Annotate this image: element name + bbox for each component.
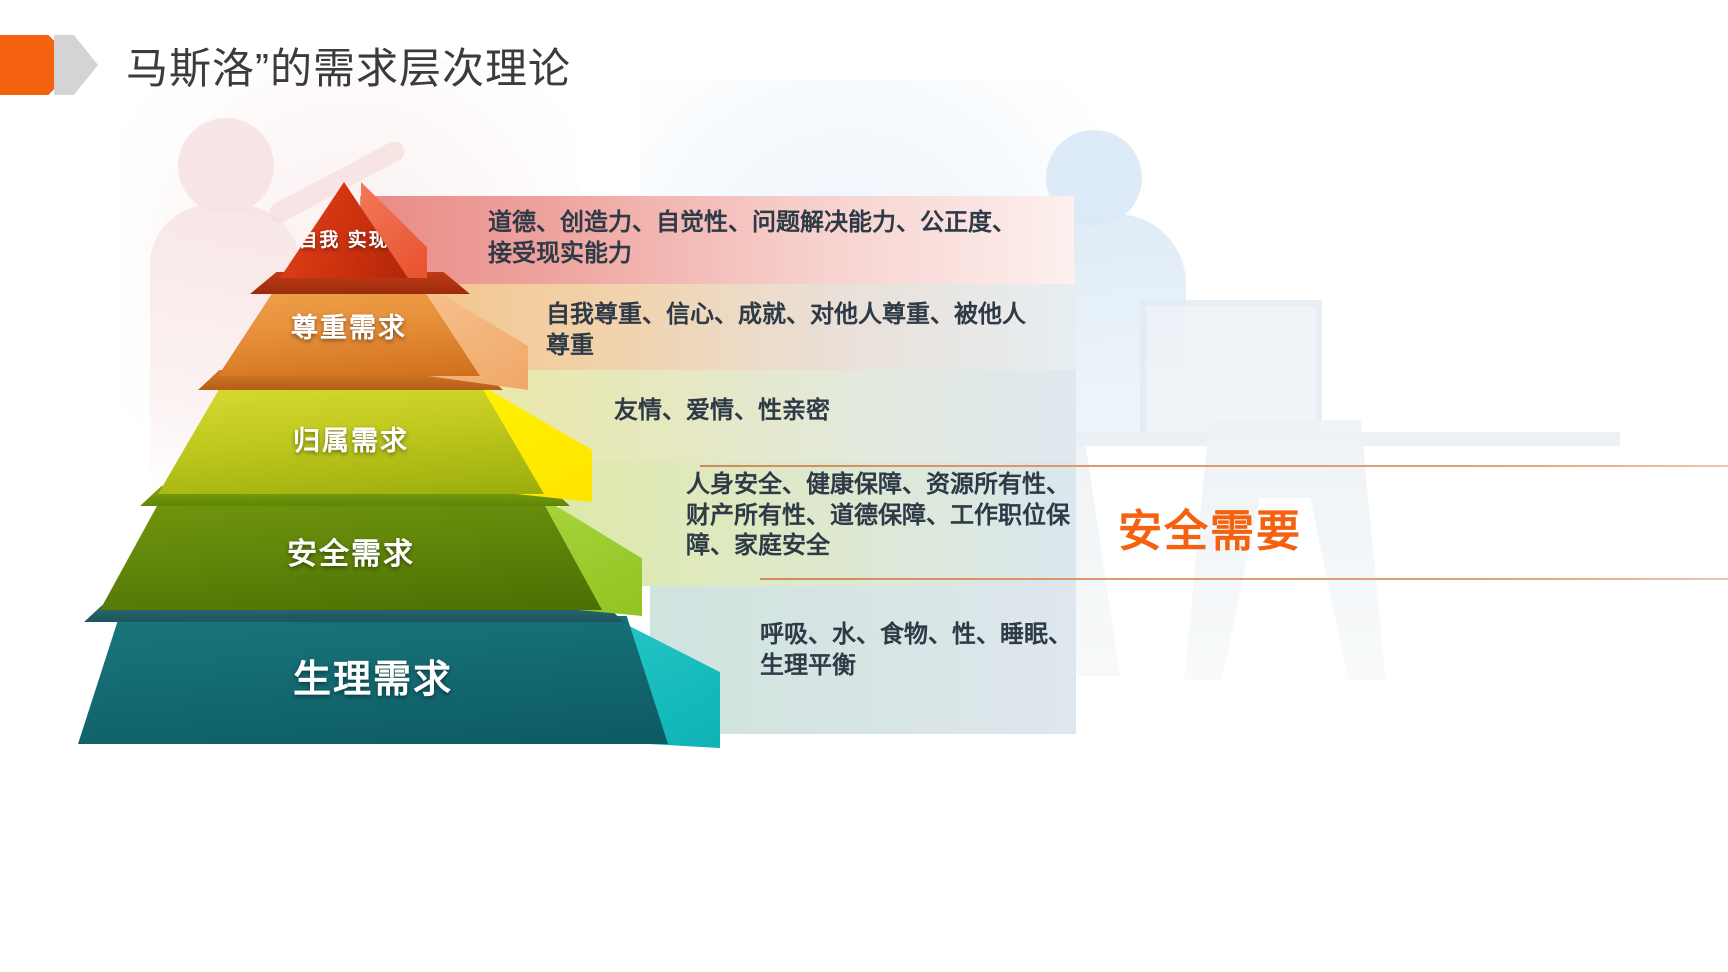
pyramid-tier-safety[interactable]: 安全需求 (100, 500, 602, 610)
pyramid-tier-safety-face: 安全需求 (100, 500, 602, 610)
pyramid-tier-self-actualization[interactable]: 自我 实现 (280, 182, 408, 278)
pyramid-tier-label-physiological: 生理需求 (293, 659, 453, 702)
highlight-rule-bottom (760, 578, 1728, 580)
pyramid-tier-physiological-face: 生理需求 (78, 616, 668, 744)
pyramid-tier-physiological[interactable]: 生理需求 (78, 616, 668, 744)
pyramid-tier-self-actualization-face: 自我 实现 (280, 182, 408, 278)
highlight-rule-top (700, 465, 1728, 467)
pyramid-tier-belonging-face: 归属需求 (158, 388, 544, 494)
description-text-physiological: 呼吸、水、食物、性、睡眠、生理平衡 (760, 620, 1090, 681)
pyramid-tier-label-belonging: 归属需求 (293, 426, 409, 456)
slide-title-bar: 马斯洛”的需求层次理论 (0, 35, 571, 95)
page-title: 马斯洛”的需求层次理论 (126, 35, 571, 96)
pyramid-tier-label-safety: 安全需求 (287, 538, 415, 572)
pyramid-tier-label-esteem: 尊重需求 (291, 313, 407, 343)
pyramid-tier-esteem[interactable]: 尊重需求 (218, 280, 480, 376)
pyramid-tier-belonging[interactable]: 归属需求 (158, 388, 544, 494)
pyramid-tier-esteem-face: 尊重需求 (218, 280, 480, 376)
pyramid-tier-label-self-actualization: 自我 实现 (298, 230, 389, 251)
highlight-label-safety: 安全需要 (1118, 495, 1302, 559)
arrow-right-secondary-icon (54, 35, 98, 95)
maslow-pyramid: 生理需求 安全需求 归属需求 尊重需求 自我 实现 (78, 180, 758, 760)
